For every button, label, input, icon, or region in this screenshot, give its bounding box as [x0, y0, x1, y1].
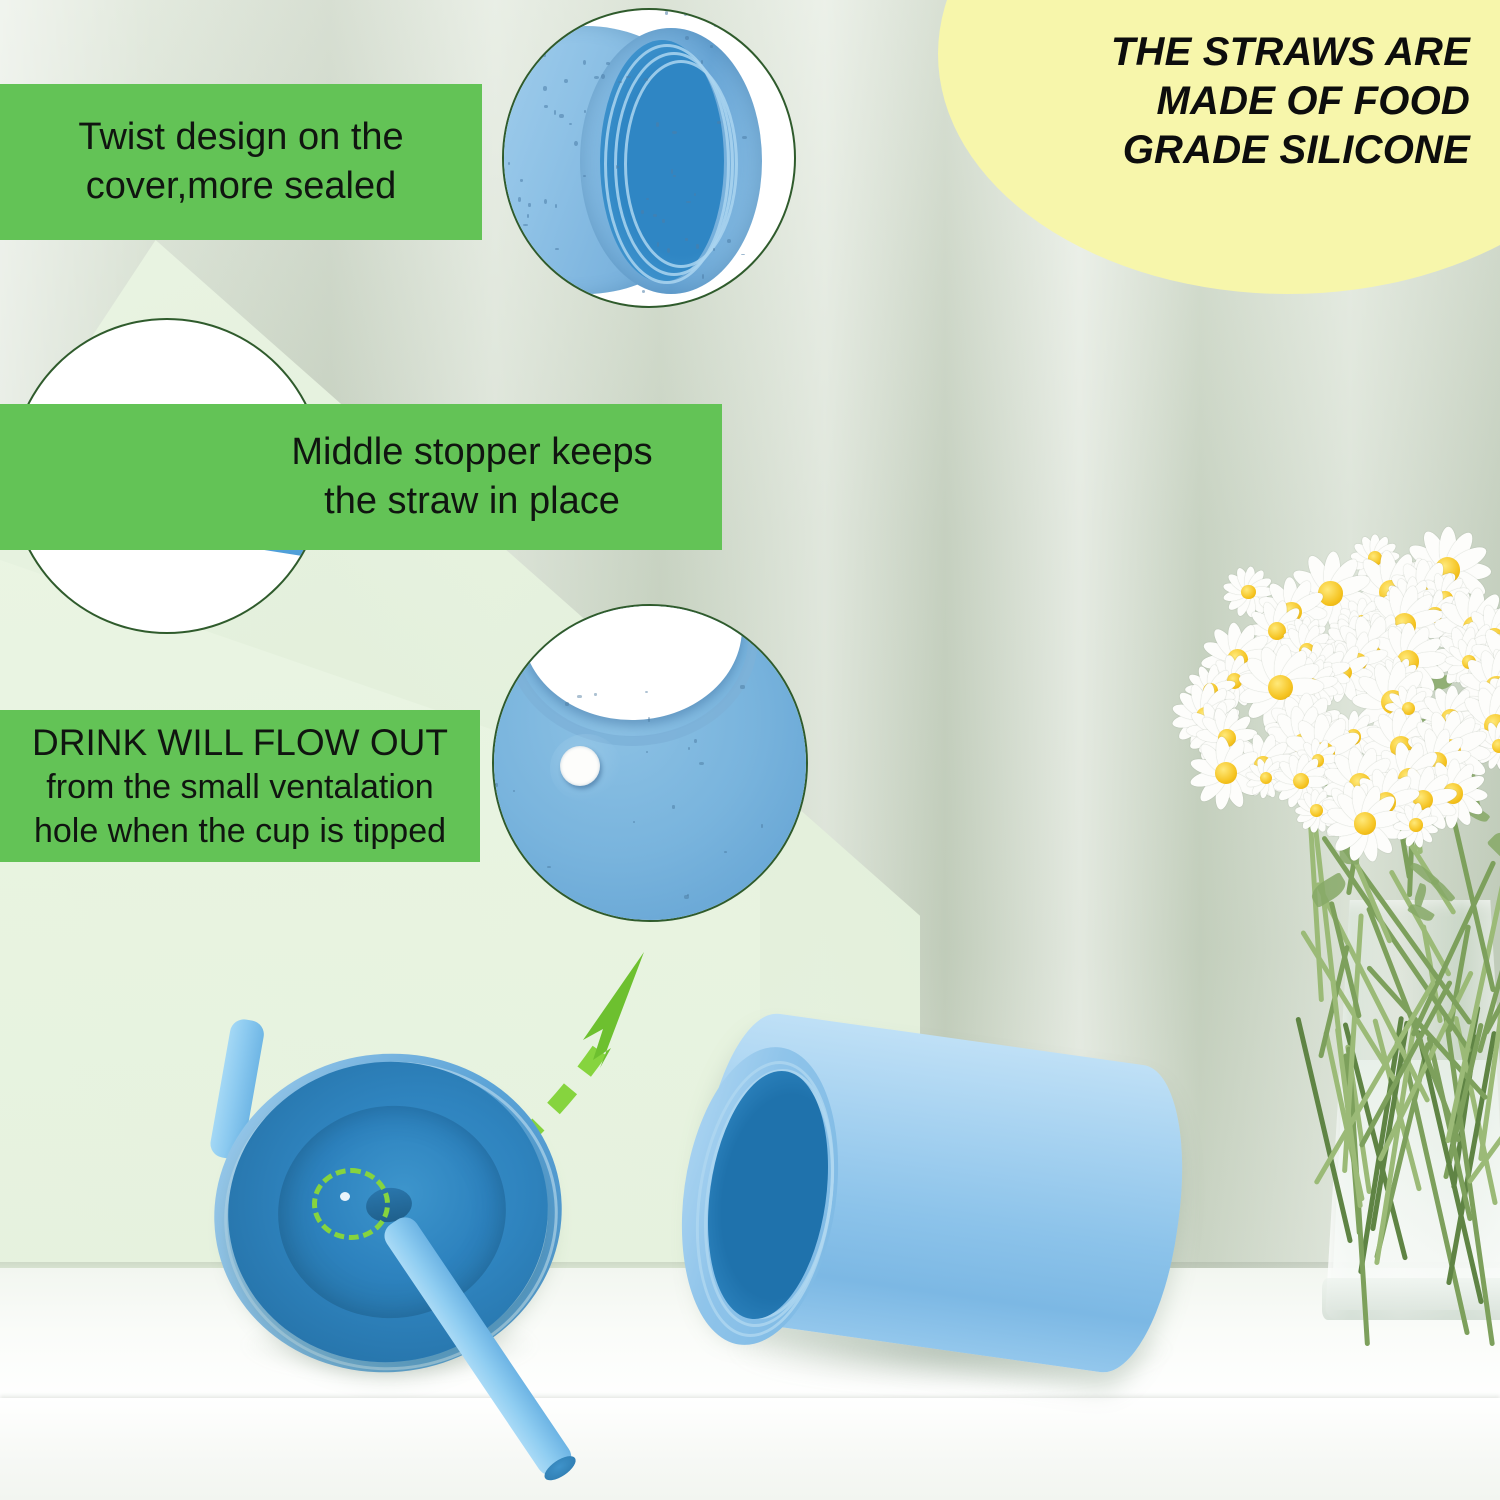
- cover-speck: [543, 86, 547, 91]
- cover-speck: [656, 122, 659, 127]
- cover-speck: [594, 76, 599, 79]
- cover-thread-3: [624, 60, 738, 268]
- cover-speck: [514, 272, 516, 277]
- cover-speck: [662, 219, 665, 223]
- cover-speck: [657, 242, 659, 246]
- lid-speck: [577, 695, 582, 698]
- daisy-center: [1354, 812, 1377, 835]
- cover-speck: [701, 60, 703, 64]
- cover-speck: [617, 166, 619, 168]
- cover-speck: [713, 248, 715, 251]
- cover-speck: [559, 114, 564, 119]
- daisy-center: [1215, 762, 1237, 784]
- lid-speck: [739, 912, 741, 916]
- twist-design-banner: Twist design on the cover,more sealed: [0, 84, 482, 240]
- infographic-canvas: THE STRAWS ARE MADE OF FOOD GRADE SILICO…: [0, 0, 1500, 1500]
- cover-speck: [665, 11, 669, 15]
- cover-speck: [684, 12, 687, 17]
- twist-design-line-2: cover,more sealed: [8, 162, 474, 211]
- daisy-center: [1241, 585, 1256, 600]
- cover-speck: [717, 121, 722, 124]
- cover-speck: [583, 175, 586, 177]
- cover-speck: [790, 95, 794, 97]
- ventilation-line-2: from the small ventalation: [8, 766, 472, 810]
- cover-speck: [685, 36, 689, 40]
- lid-with-straw-photo: [180, 1010, 700, 1480]
- cover-speck: [518, 197, 521, 201]
- cover-speck: [696, 244, 699, 248]
- material-callout-line-1: THE STRAWS ARE: [1000, 28, 1470, 77]
- ventilation-hole-banner: DRINK WILL FLOW OUT from the small venta…: [0, 710, 480, 862]
- cover-speck: [564, 79, 568, 83]
- middle-stopper-line-1: Middle stopper keeps: [230, 428, 714, 477]
- lid-speck: [687, 894, 689, 896]
- cup-on-side-photo: [660, 1010, 1220, 1430]
- cover-speck: [741, 254, 745, 256]
- daisy-center: [1409, 818, 1422, 831]
- daisy-center: [1492, 739, 1500, 753]
- ventilation-hole: [560, 746, 600, 786]
- cover-speck: [544, 199, 547, 204]
- daisy-flower: [1327, 785, 1403, 861]
- cover-speck: [742, 136, 747, 139]
- lid-speck: [740, 685, 745, 689]
- daisy-flower: [1394, 803, 1438, 847]
- cover-speck: [764, 18, 766, 21]
- material-callout-text: THE STRAWS ARE MADE OF FOOD GRADE SILICO…: [1000, 28, 1470, 174]
- lid-speck: [565, 702, 569, 706]
- lid-speck: [648, 717, 650, 722]
- lid-speck: [503, 826, 507, 830]
- cover-speck: [727, 239, 731, 243]
- cover-speck: [777, 69, 780, 71]
- cover-speck: [601, 74, 605, 79]
- middle-stopper-banner: Middle stopper keeps the straw in place: [0, 404, 722, 550]
- cover-speck: [543, 53, 546, 57]
- ventilation-line-1: DRINK WILL FLOW OUT: [8, 719, 472, 766]
- cup-cover-closeup: [502, 8, 796, 308]
- cover-speck: [702, 274, 704, 279]
- cover-speck: [673, 175, 676, 177]
- cover-speck: [646, 198, 649, 200]
- cover-speck: [626, 76, 631, 78]
- middle-stopper-line-2: the straw in place: [230, 477, 714, 526]
- cover-speck: [523, 224, 528, 226]
- cover-speck: [642, 290, 645, 293]
- lid-speck: [797, 863, 801, 866]
- vase-base: [1322, 1278, 1500, 1320]
- lid-speck: [694, 739, 697, 744]
- cover-speck: [672, 131, 677, 134]
- lid-speck: [513, 790, 515, 792]
- straw-open-end: [541, 1452, 580, 1485]
- cover-speck: [544, 105, 547, 108]
- cover-speck: [746, 41, 750, 46]
- lid-speck: [688, 747, 690, 750]
- material-callout-line-2: MADE OF FOOD: [1000, 77, 1470, 126]
- ventilation-hole-closeup: [492, 604, 808, 922]
- cover-speck: [653, 214, 657, 217]
- cover-speck: [691, 13, 694, 15]
- lid-speck: [495, 783, 498, 787]
- cover-speck: [710, 45, 713, 48]
- lid-speck: [594, 693, 597, 696]
- ventilation-hole-highlight-circle: [312, 1168, 390, 1240]
- cover-speck: [777, 285, 779, 288]
- cover-speck: [730, 20, 733, 22]
- cover-speck: [520, 179, 524, 182]
- cover-speck: [508, 36, 510, 40]
- cover-speck: [584, 110, 586, 113]
- lid-speck: [672, 805, 675, 808]
- material-callout-line-3: GRADE SILICONE: [1000, 126, 1470, 175]
- cover-speck: [519, 16, 521, 19]
- twist-design-line-1: Twist design on the: [8, 113, 474, 162]
- ventilation-line-3: hole when the cup is tipped: [8, 810, 472, 854]
- cover-speck: [714, 24, 717, 27]
- cover-speck: [694, 193, 696, 196]
- lid-speck: [761, 824, 763, 828]
- cover-speck: [528, 203, 530, 207]
- lid-speck: [645, 691, 648, 693]
- cover-speck: [641, 210, 644, 214]
- cover-speck: [671, 169, 673, 173]
